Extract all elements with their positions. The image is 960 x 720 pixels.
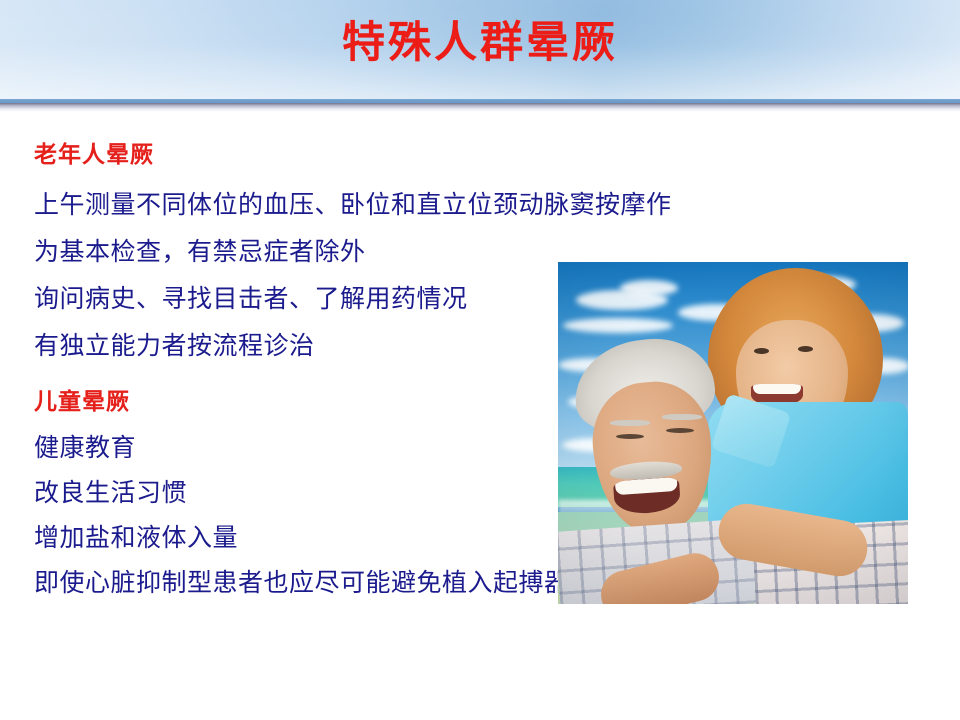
header-drop-shadow: [0, 103, 960, 113]
body-line-elderly-3: 询问病史、寻找目击者、了解用药情况: [34, 286, 468, 311]
section-heading-elderly: 老年人晕厥: [34, 143, 154, 166]
body-line-children-3: 增加盐和液体入量: [34, 525, 238, 550]
body-line-elderly-1: 上午测量不同体位的血压、卧位和直立位颈动脉窦按摩作: [34, 192, 672, 217]
grandfather-teeth: [615, 477, 678, 495]
body-line-children-1: 健康教育: [34, 435, 136, 460]
grandfather-left-eye: [616, 434, 644, 439]
presentation-slide: 特殊人群晕厥 老年人晕厥 上午测量不同体位的血压、卧位和直立位颈动脉窦按摩作 为…: [0, 0, 960, 720]
body-line-children-4: 即使心脏抑制型患者也应尽可能避免植入起搏器: [34, 570, 570, 595]
grandfather-left-brow: [610, 420, 650, 426]
grandfather-right-brow: [662, 414, 702, 420]
body-line-elderly-2: 为基本检查，有禁忌症者除外: [34, 239, 366, 264]
body-line-elderly-4: 有独立能力者按流程诊治: [34, 333, 315, 358]
cloud-shape: [620, 280, 678, 296]
boy-teeth: [753, 384, 801, 394]
page-title: 特殊人群晕厥: [0, 21, 960, 66]
grandfather-right-eye: [666, 428, 694, 433]
slide-header-band: 特殊人群晕厥: [0, 0, 960, 99]
boy-right-eye: [798, 346, 813, 352]
body-line-children-2: 改良生活习惯: [34, 480, 187, 505]
beach-family-photo: [558, 262, 908, 604]
cloud-shape: [563, 318, 673, 333]
section-heading-children: 儿童晕厥: [34, 390, 130, 413]
boy-left-eye: [754, 348, 769, 354]
